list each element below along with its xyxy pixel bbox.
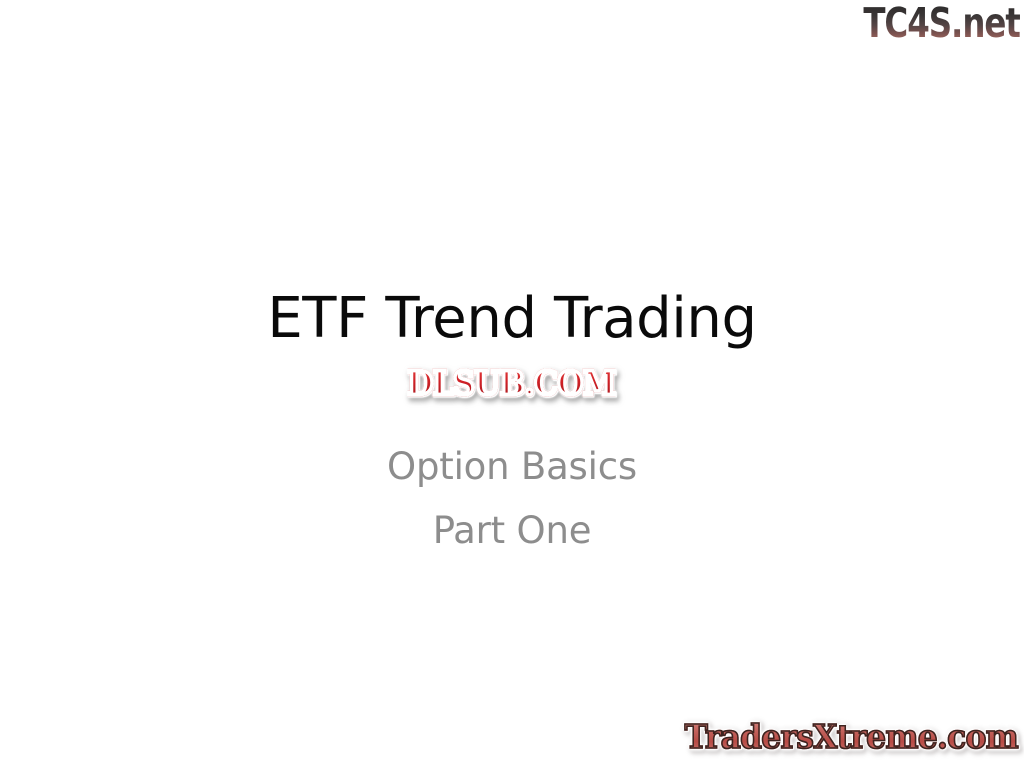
slide-subtitle-line-1: Option Basics (0, 446, 1024, 489)
dlsub-watermark-badge: DLSUB.COM (366, 363, 656, 405)
tc4s-watermark-text: TC4S.net (864, 3, 1020, 44)
dlsub-watermark-text: DLSUB.COM (407, 368, 615, 401)
presentation-slide: TC4S.net ETF Trend Trading DLSUB.COM Opt… (0, 0, 1024, 768)
slide-subtitle-line-2: Part One (0, 510, 1024, 553)
tc4s-watermark-logo: TC4S.net (828, 0, 1020, 44)
tradersxtreme-watermark: TradersXtreme.com (684, 714, 1018, 758)
slide-title: ETF Trend Trading (0, 288, 1024, 351)
tradersxtreme-watermark-text: TradersXtreme.com (685, 720, 1018, 753)
